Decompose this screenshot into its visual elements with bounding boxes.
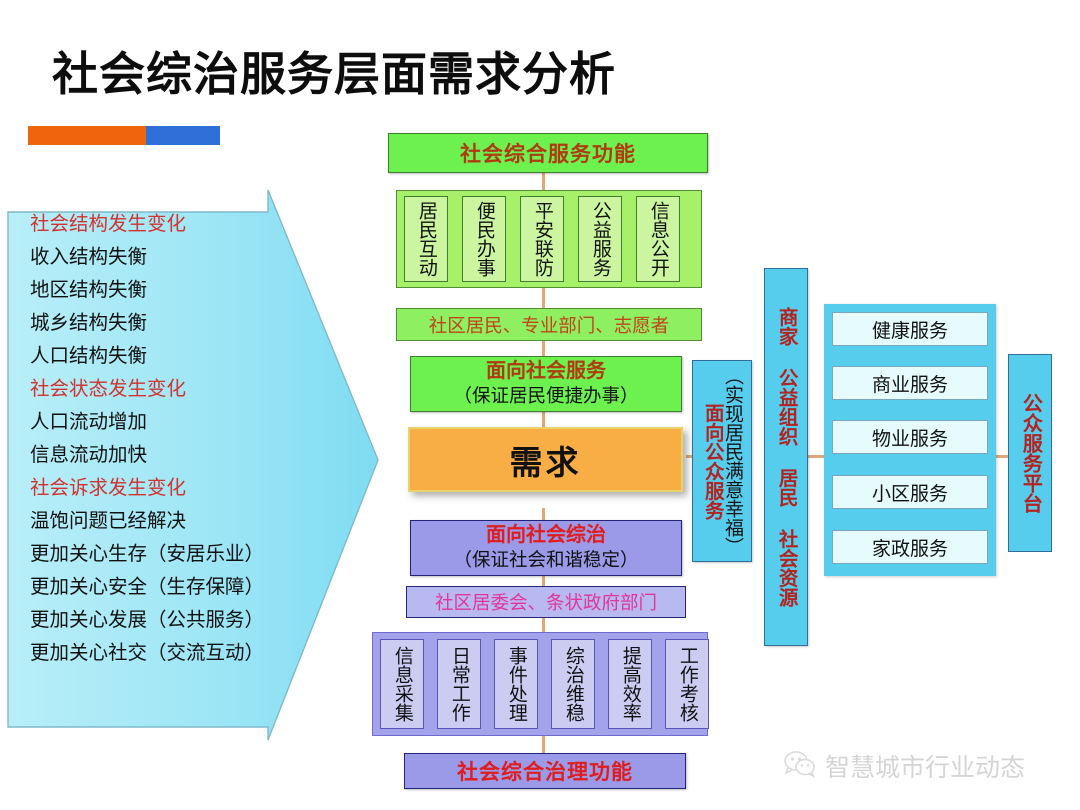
service-item[interactable]: 家政服务 [832,530,988,564]
public-service-block: （实现居民满意幸福） 面向公众服务 [692,360,752,562]
list-item: 社会状态发生变化 [30,379,320,399]
service-actors-bar: 社区居民、专业部门、志愿者 [396,308,702,341]
governance-oriented-title: 面向社会综治 [486,523,606,548]
connector-vertical [542,288,545,310]
governance-oriented-subtitle: （保证社会和谐稳定） [453,548,638,572]
list-item: 更加关心发展（公共服务） [30,610,320,630]
watermark: 智慧城市行业动态 [784,748,1025,784]
service-item[interactable]: 健康服务 [832,312,988,346]
governance-actors-bar: 社区居委会、条状政府部门 [406,586,686,618]
list-item: 收入结构失衡 [30,247,320,267]
list-item: 人口结构失衡 [30,346,320,366]
service-item[interactable]: 商业服务 [832,366,988,400]
service-function-cell[interactable]: 信息公开 [636,196,680,282]
accent-segment-blue [146,126,220,145]
left-arrow-panel: 社会结构发生变化 收入结构失衡 地区结构失衡 城乡结构失衡 人口结构失衡 社会状… [0,182,392,748]
demand-box: 需求 [408,427,683,492]
slide-canvas: 社会综治服务层面需求分析 社会结构发生变化 收入结构失衡 地区结构失衡 城乡结构… [0,0,1080,810]
governance-function-cell[interactable]: 事件处理 [494,639,538,729]
service-item[interactable]: 物业服务 [832,420,988,454]
governance-function-cell[interactable]: 日常工作 [437,639,481,729]
resources-bar: 商家 公益组织 居民 社会资源 [764,268,808,646]
public-service-title: 面向公众服务 [702,403,722,520]
list-item: 城乡结构失衡 [30,313,320,333]
list-item: 更加关心生存（安居乐业） [30,544,320,564]
list-item: 人口流动增加 [30,412,320,432]
center-top-header: 社会综合服务功能 [388,133,708,173]
service-oriented-block: 面向社会服务 （保证居民便捷办事） [410,356,682,412]
service-oriented-subtitle: （保证居民便捷办事） [453,384,638,408]
resources-label: 商家 公益组织 居民 社会资源 [776,307,796,607]
list-item: 社会结构发生变化 [30,214,320,234]
service-function-cell[interactable]: 便民办事 [462,196,506,282]
public-service-subtitle: （实现居民满意幸福） [722,366,742,556]
service-function-cell[interactable]: 公益服务 [578,196,622,282]
watermark-label: 智慧城市行业动态 [825,748,1025,784]
governance-function-cell[interactable]: 提高效率 [608,639,652,729]
service-oriented-title: 面向社会服务 [486,359,606,384]
governance-function-cell[interactable]: 综治维稳 [551,639,595,729]
governance-function-cell[interactable]: 信息采集 [380,639,424,729]
center-bottom-header: 社会综合治理功能 [404,753,686,789]
list-item: 更加关心社交（交流互动） [30,643,320,663]
list-item: 温饱问题已经解决 [30,511,320,531]
wechat-icon [784,750,816,783]
service-function-cell[interactable]: 平安联防 [520,196,564,282]
service-function-cell[interactable]: 居民互动 [404,196,448,282]
governance-oriented-block: 面向社会综治 （保证社会和谐稳定） [410,520,682,576]
service-item[interactable]: 小区服务 [832,475,988,509]
list-item: 社会诉求发生变化 [30,478,320,498]
accent-segment-orange [28,126,146,145]
public-service-platform: 公众服务平台 [1008,354,1052,552]
governance-function-cell[interactable]: 工作考核 [665,639,709,729]
platform-label: 公众服务平台 [1020,393,1041,513]
left-arrow-list: 社会结构发生变化 收入结构失衡 地区结构失衡 城乡结构失衡 人口结构失衡 社会状… [30,214,320,676]
accent-bar [28,126,220,145]
list-item: 信息流动加快 [30,445,320,465]
connector-vertical [542,410,545,428]
list-item: 更加关心安全（生存保障） [30,577,320,597]
page-title: 社会综治服务层面需求分析 [52,38,616,104]
list-item: 地区结构失衡 [30,280,320,300]
connector-vertical [542,736,545,754]
